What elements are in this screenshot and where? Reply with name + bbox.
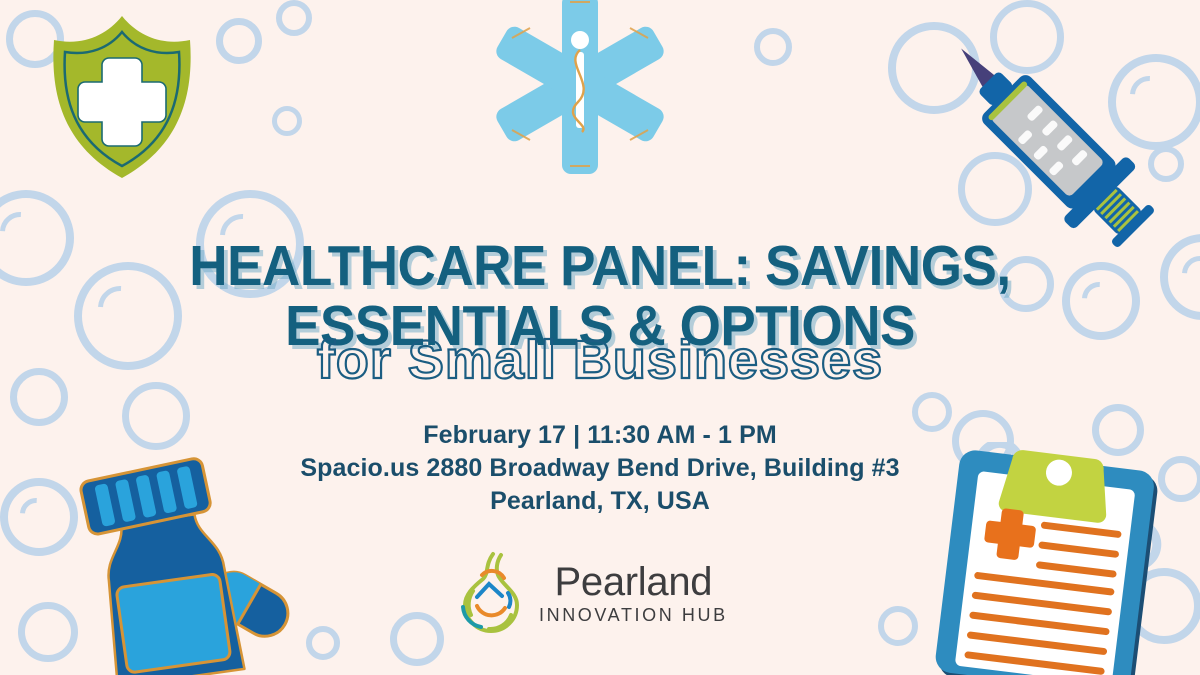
- pearland-innovation-hub-logo: Pearland INNOVATION HUB: [455, 548, 745, 638]
- event-address: Spacio.us 2880 Broadway Bend Drive, Buil…: [0, 452, 1200, 485]
- event-datetime: February 17 | 11:30 AM - 1 PM: [0, 419, 1200, 452]
- logo-tagline: INNOVATION HUB: [539, 606, 728, 624]
- event-flyer: HEALTHCARE PANEL: SAVINGS, ESSENTIALS & …: [0, 0, 1200, 675]
- logo-wordmark: Pearland INNOVATION HUB: [539, 562, 728, 624]
- event-city: Pearland, TX, USA: [0, 485, 1200, 518]
- title-line-1: HEALTHCARE PANEL: SAVINGS,: [189, 234, 1010, 298]
- page-subtitle: for Small Businesses: [0, 329, 1200, 391]
- flyer-content: HEALTHCARE PANEL: SAVINGS, ESSENTIALS & …: [0, 0, 1200, 675]
- pear-mark-icon: [455, 549, 527, 638]
- logo-name: Pearland: [539, 562, 728, 602]
- event-details: February 17 | 11:30 AM - 1 PM Spacio.us …: [0, 419, 1200, 518]
